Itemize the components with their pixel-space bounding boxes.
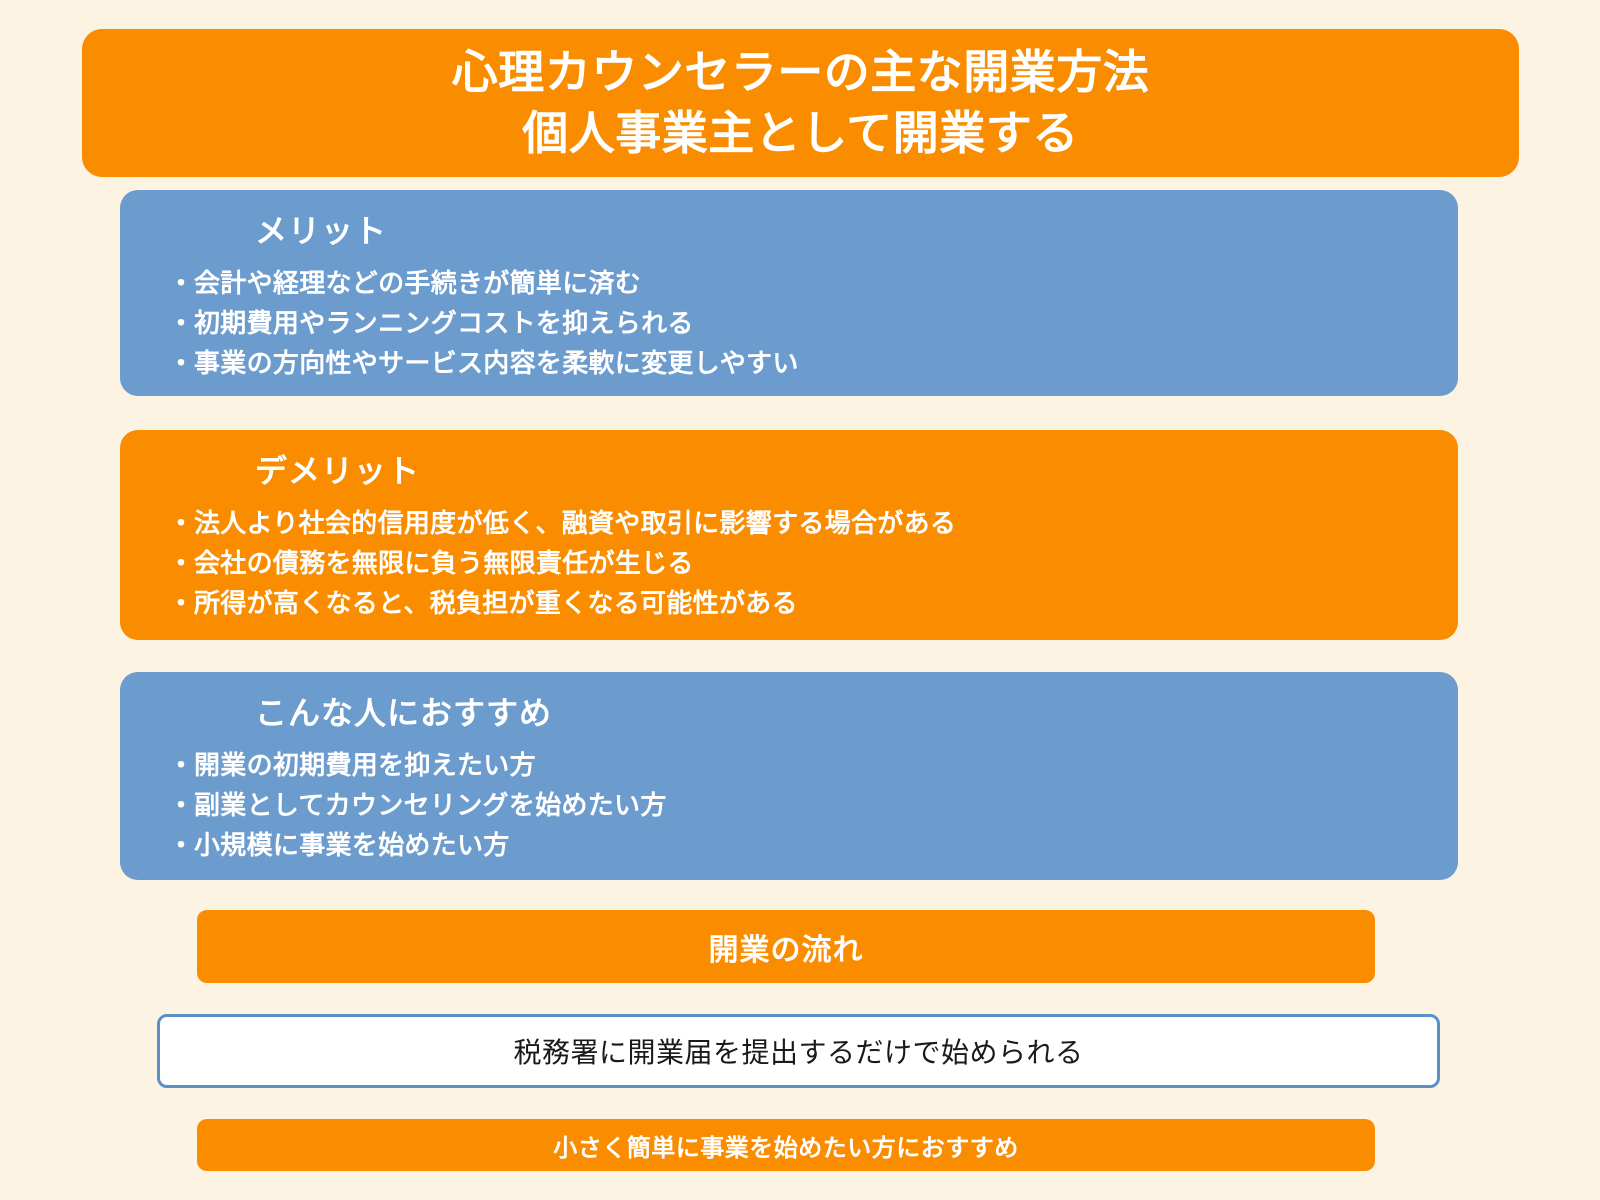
list-item: 開業の初期費用を抑えたい方 [168,746,1458,786]
list-item: 会社の債務を無限に負う無限責任が生じる [168,544,1458,584]
section-heading-demerit: デメリット [255,430,1458,492]
flow-step-label: 税務署に開業届を提出するだけで始められる [513,1031,1083,1071]
page-title-line-1: 心理カウンセラーの主な開業方法 [452,44,1150,102]
page-title-line-2: 個人事業主として開業する [522,105,1079,163]
section-heading-merit: メリット [255,190,1458,252]
section-list-recommended: 開業の初期費用を抑えたい方 副業としてカウンセリングを始めたい方 小規模に事業を… [120,746,1458,866]
footer-callout-bar: 小さく簡単に事業を始めたい方におすすめ [197,1119,1375,1171]
list-item: 所得が高くなると、税負担が重くなる可能性がある [168,584,1458,624]
footer-callout-label: 小さく簡単に事業を始めたい方におすすめ [553,1128,1019,1163]
page-title-banner: 心理カウンセラーの主な開業方法 個人事業主として開業する [82,29,1519,177]
flow-step-box: 税務署に開業届を提出するだけで始められる [157,1014,1440,1088]
list-item: 事業の方向性やサービス内容を柔軟に変更しやすい [168,344,1458,384]
list-item: 会計や経理などの手続きが簡単に済む [168,264,1458,304]
list-item: 小規模に事業を始めたい方 [168,826,1458,866]
section-card-merit: メリット 会計や経理などの手続きが簡単に済む 初期費用やランニングコストを抑えら… [120,190,1458,396]
section-heading-recommended: こんな人におすすめ [255,672,1458,734]
flow-heading-label: 開業の流れ [709,925,864,969]
section-list-merit: 会計や経理などの手続きが簡単に済む 初期費用やランニングコストを抑えられる 事業… [120,264,1458,384]
flow-heading-bar: 開業の流れ [197,910,1375,983]
list-item: 副業としてカウンセリングを始めたい方 [168,786,1458,826]
list-item: 法人より社会的信用度が低く、融資や取引に影響する場合がある [168,504,1458,544]
section-card-demerit: デメリット 法人より社会的信用度が低く、融資や取引に影響する場合がある 会社の債… [120,430,1458,640]
section-card-recommended: こんな人におすすめ 開業の初期費用を抑えたい方 副業としてカウンセリングを始めた… [120,672,1458,880]
infographic-page: { "colors": { "background": "#FDF3E2", "… [0,0,1600,1200]
section-list-demerit: 法人より社会的信用度が低く、融資や取引に影響する場合がある 会社の債務を無限に負… [120,504,1458,624]
list-item: 初期費用やランニングコストを抑えられる [168,304,1458,344]
